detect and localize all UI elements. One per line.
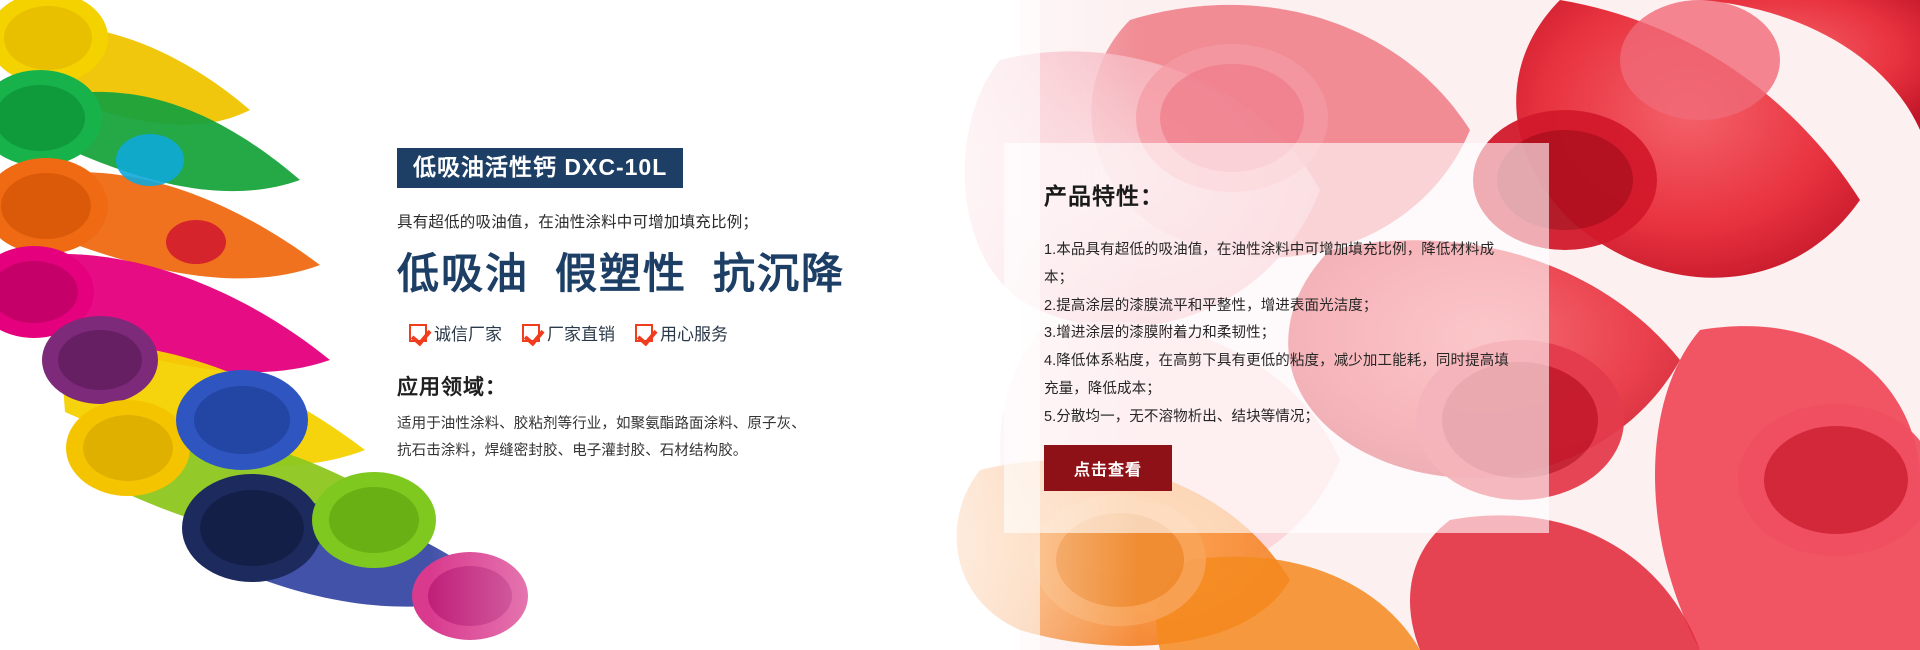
check-square-icon (409, 324, 427, 342)
check-square-icon (522, 324, 540, 342)
application-body-text: 适用于油性涂料、胶粘剂等行业，如聚氨酯路面涂料、原子灰、抗石击涂料，焊缝密封胶、… (397, 411, 817, 465)
feature-list-item: 2.提高涂层的漆膜流平和平整性，增进表面光洁度； (1044, 293, 1509, 321)
application-heading: 应用领域： (397, 371, 877, 401)
trust-feature-item: 用心服务 (635, 320, 728, 345)
banner-stage: 低吸油活性钙 DXC-10L 具有超低的吸油值，在油性涂料中可增加填充比例； 低… (0, 0, 1920, 650)
feature-list: 1.本品具有超低的吸油值，在油性涂料中可增加填充比例，降低材料成本； 2.提高涂… (1044, 237, 1509, 432)
trust-feature-label: 用心服务 (660, 320, 728, 345)
headline-word-2: 假塑性 (555, 250, 687, 297)
feature-list-item: 3.增进涂层的漆膜附着力和柔韧性； (1044, 320, 1509, 348)
paint-splash-background (0, 0, 1920, 650)
left-content-column: 低吸油活性钙 DXC-10L 具有超低的吸油值，在油性涂料中可增加填充比例； 低… (397, 148, 877, 465)
trust-feature-item: 厂家直销 (522, 320, 615, 345)
trust-feature-row: 诚信厂家 厂家直销 用心服务 (397, 320, 877, 345)
trust-feature-label: 厂家直销 (547, 320, 615, 345)
feature-list-item: 5.分散均一，无不溶物析出、结块等情况； (1044, 404, 1509, 432)
product-title-badge: 低吸油活性钙 DXC-10L (397, 148, 683, 188)
product-subtitle: 具有超低的吸油值，在油性涂料中可增加填充比例； (397, 212, 877, 234)
trust-feature-label: 诚信厂家 (434, 320, 502, 345)
headline-keywords: 低吸油假塑性抗沉降 (397, 250, 877, 298)
panel-title: 产品特性： (1044, 177, 1509, 211)
feature-list-item: 4.降低体系粘度，在高剪下具有更低的粘度，减少加工能耗，同时提高填充量，降低成本… (1044, 348, 1509, 404)
check-square-icon (635, 324, 653, 342)
feature-list-item: 1.本品具有超低的吸油值，在油性涂料中可增加填充比例，降低材料成本； (1044, 237, 1509, 293)
headline-word-3: 抗沉降 (713, 250, 845, 297)
view-details-button[interactable]: 点击查看 (1044, 445, 1172, 491)
product-features-panel: 产品特性： 1.本品具有超低的吸油值，在油性涂料中可增加填充比例，降低材料成本；… (1004, 143, 1549, 533)
trust-feature-item: 诚信厂家 (409, 320, 502, 345)
headline-word-1: 低吸油 (397, 250, 529, 297)
